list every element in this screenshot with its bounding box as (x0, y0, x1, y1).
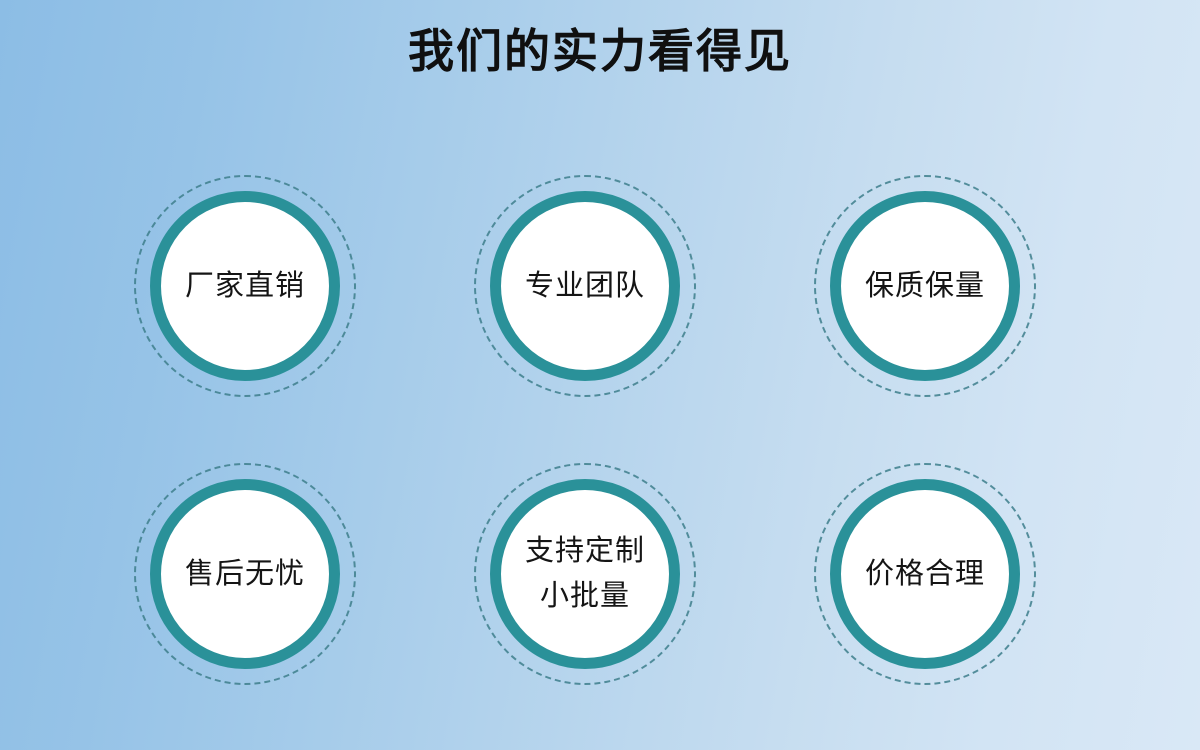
slide-canvas: 我们的实力看得见 厂家直销 专业团队 保质保量 售后无忧 (0, 0, 1200, 750)
badge-professional-team[interactable]: 专业团队 (474, 175, 696, 397)
badge-quality-and-quantity[interactable]: 保质保量 (814, 175, 1036, 397)
badge-circle[interactable]: 厂家直销 (150, 191, 340, 381)
badge-factory-direct-sales[interactable]: 厂家直销 (134, 175, 356, 397)
badge-grid: 厂家直销 专业团队 保质保量 售后无忧 (0, 0, 1200, 750)
badge-circle[interactable]: 专业团队 (490, 191, 680, 381)
badge-label-line-1: 支持定制 (525, 529, 645, 574)
badge-circle[interactable]: 价格合理 (830, 479, 1020, 669)
badge-circle[interactable]: 支持定制 小批量 (490, 479, 680, 669)
badge-customization-small-batch[interactable]: 支持定制 小批量 (474, 463, 696, 685)
badge-circle[interactable]: 保质保量 (830, 191, 1020, 381)
badge-reasonable-price[interactable]: 价格合理 (814, 463, 1036, 685)
badge-label-line-2: 小批量 (540, 574, 630, 619)
badge-circle[interactable]: 售后无忧 (150, 479, 340, 669)
badge-worry-free-after-sales[interactable]: 售后无忧 (134, 463, 356, 685)
badge-label-line-1: 厂家直销 (185, 264, 305, 309)
badge-label-line-1: 专业团队 (525, 264, 645, 309)
badge-label-line-1: 售后无忧 (185, 552, 305, 597)
badge-label-line-1: 保质保量 (865, 264, 985, 309)
badge-label-line-1: 价格合理 (865, 552, 985, 597)
